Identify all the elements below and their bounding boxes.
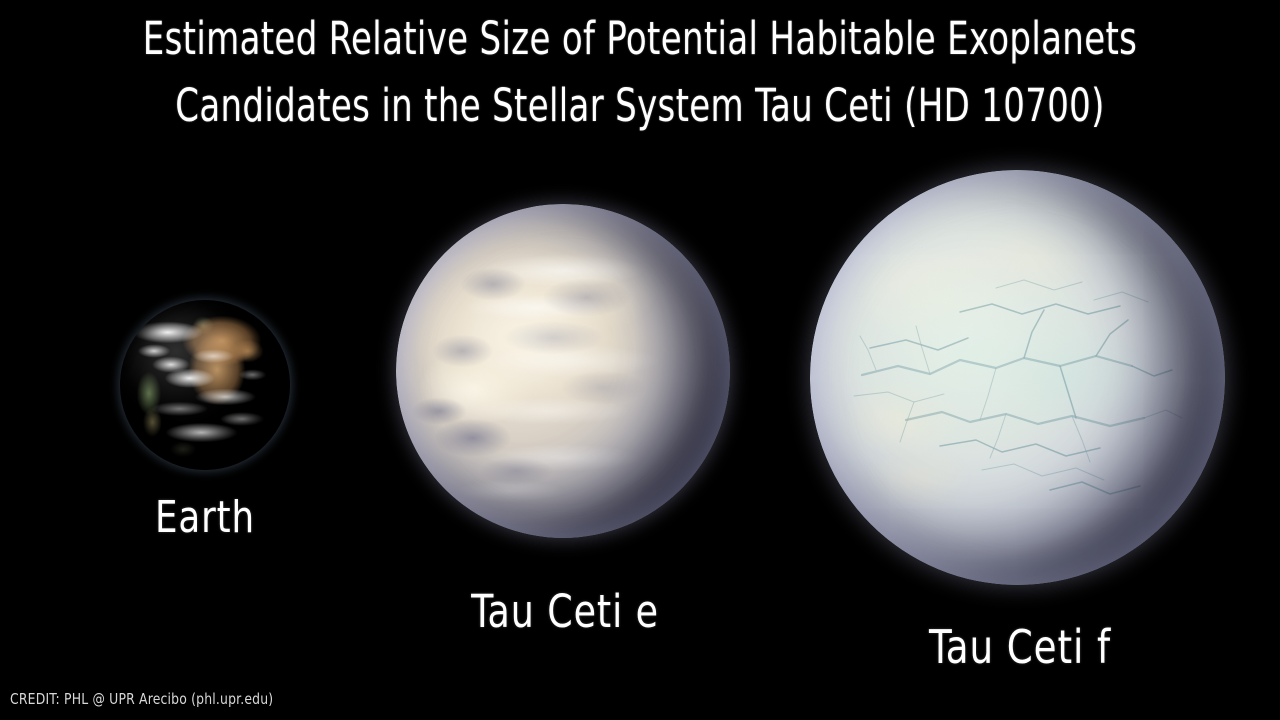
title-line-1: Estimated Relative Size of Potential Hab… (102, 16, 1177, 61)
planet-tau-ceti-f (810, 170, 1225, 585)
planet-label-earth: Earth (21, 492, 390, 543)
tau-ceti-e-limb-shading (396, 204, 730, 538)
infographic-canvas: Estimated Relative Size of Potential Hab… (0, 0, 1280, 720)
planet-earth (120, 300, 290, 470)
planet-tau-ceti-e (396, 204, 730, 538)
planet-label-tau-ceti-f: Tau Ceti f (831, 620, 1209, 674)
title-line-2: Candidates in the Stellar System Tau Cet… (102, 83, 1177, 128)
earth-limb-shading (120, 300, 290, 470)
planet-label-tau-ceti-e: Tau Ceti e (399, 585, 732, 638)
tau-ceti-f-limb-shading (810, 170, 1225, 585)
credit-text: CREDIT: PHL @ UPR Arecibo (phl.upr.edu) (10, 690, 273, 708)
page-title: Estimated Relative Size of Potential Hab… (0, 16, 1280, 128)
